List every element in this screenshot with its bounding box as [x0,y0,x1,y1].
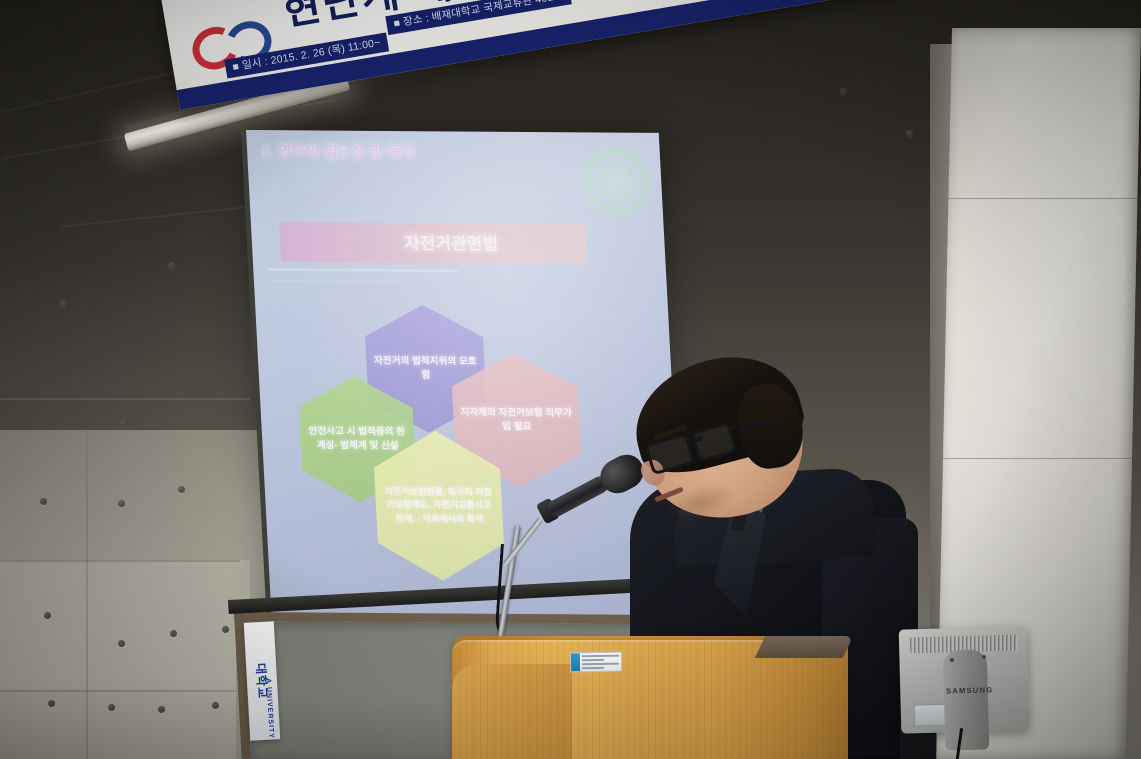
sticker-color-bar [571,653,580,671]
wall-seam [86,430,88,759]
concrete-tie-hole [118,640,125,647]
concrete-tie-hole [212,702,219,709]
concrete-tie-hole [168,262,175,269]
slide-section-title: 1. 연구의 필요성 및 목적 [261,140,416,162]
lectern-notch [755,636,854,658]
lectern-left-panel [452,664,572,759]
sticker-text-lines [580,653,621,672]
concrete-tie-hole [222,626,229,633]
concrete-tie-hole [44,612,51,619]
slide-rule [267,268,457,272]
monitor-screw [982,655,986,659]
concrete-tie-hole [60,300,67,307]
slide-subject-title: 자전거관련법 [403,229,498,255]
samsung-monitor: SAMSUNG [900,628,1050,759]
monitor-brand-label: SAMSUNG [946,685,990,695]
hexagon-label: 자전거보험현황, 외국의 자전거보험제도, 자전거교통사고 판례, - 자료제시… [375,486,503,526]
slide-rule [268,280,398,283]
concrete-tie-hole [40,498,47,505]
concrete-wall-left-lower [0,560,250,759]
inventory-barcode-sticker [570,652,622,673]
concrete-tie-hole [840,88,847,95]
circular-green-seal-watermark [584,150,649,212]
concrete-tie-hole [170,630,177,637]
monitor-screw [950,658,954,662]
concrete-tie-hole [120,420,127,427]
concrete-tie-hole [158,706,165,713]
concrete-tie-hole [906,130,913,137]
wall-seam [0,690,236,692]
wall-seam [0,560,240,562]
lecture-hall-photo: 1. 연구의 필요성 및 목적 자전거관련법 자전거의 법적지위의 모호함 안전… [0,0,1141,759]
monitor-stand-hinge [943,649,990,750]
hexagon-label: 안전사고 시 법적용의 한계성- 법체계 및 신설 [300,425,416,454]
concrete-tie-hole [48,700,55,707]
concrete-tie-hole [178,486,185,493]
concrete-tie-hole [118,500,125,507]
vertical-banner-english: A UNIVERSITY [264,678,274,739]
concrete-tie-hole [108,704,115,711]
hexagon-label: 지자체의 자전거보험 의무가입 필요 [453,406,581,435]
wall-seam [0,398,250,400]
